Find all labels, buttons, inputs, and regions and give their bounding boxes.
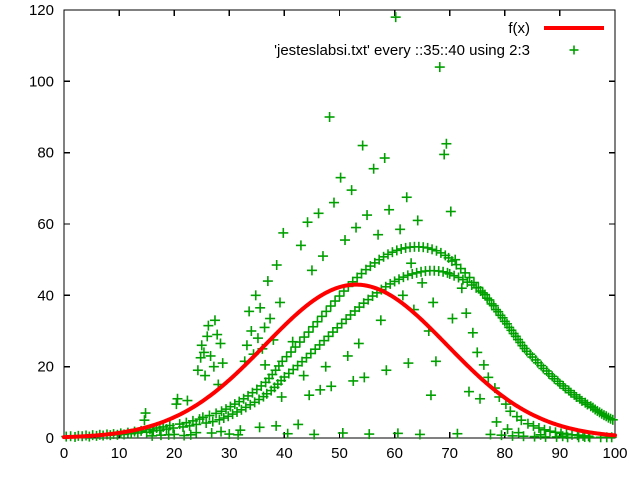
data-point-marker [232,407,242,417]
data-point-marker [340,235,350,245]
data-point-marker [478,288,488,298]
data-point-marker [272,260,282,270]
data-point-marker [464,387,474,397]
data-point-marker [479,360,489,370]
data-point-marker [461,308,471,318]
data-point-marker [469,277,479,287]
data-point-marker [200,371,210,381]
data-point-marker [347,185,357,195]
data-point-marker [215,338,225,348]
data-point-marker [428,297,438,307]
data-point-marker [403,270,413,280]
data-point-marker [255,303,265,313]
data-point-marker [293,419,303,429]
data-point-marker [465,273,475,283]
legend: f(x) 'jesteslabsi.txt' every ::35::40 us… [274,20,604,59]
legend-label-datafile: 'jesteslabsi.txt' every ::35::40 using 2… [274,42,530,59]
x-tick-label: 100 [602,445,627,462]
data-point-marker [435,62,445,72]
data-point-marker [468,328,478,338]
data-point-marker [212,330,222,340]
data-point-marker [260,360,270,370]
data-point-marker [217,406,227,416]
data-point-marker [387,247,397,257]
data-point-marker [218,358,228,368]
data-point-marker [329,198,339,208]
data-point-marker [236,405,246,415]
data-point-marker [541,432,551,442]
data-point-marker [314,208,324,218]
data-point-marker [230,399,240,409]
data-point-marker [402,192,412,202]
data-point-marker [391,12,401,22]
data-point-marker [358,141,368,151]
data-point-marker [245,400,255,410]
data-point-marker [265,314,275,324]
data-point-marker [242,340,252,350]
data-point-marker [528,421,538,431]
data-point-marker [202,331,212,341]
data-point-marker [317,311,327,321]
x-tick-label: 50 [331,445,348,462]
x-tick-label: 30 [221,445,238,462]
data-point-marker [354,338,364,348]
gnuplot-figure: 020406080100120 0102030405060708090100 f… [0,0,640,480]
data-point-marker [223,411,233,421]
data-point-marker [407,269,417,279]
data-point-marker [255,422,265,432]
data-point-marker [182,396,192,406]
data-point-marker [343,351,353,361]
x-tick-label: 0 [60,445,68,462]
data-point-marker [505,406,515,416]
legend-plus-sample [570,46,579,55]
scatter-series [61,12,618,442]
data-point-marker [423,243,433,253]
data-point-marker [304,327,314,337]
data-point-marker [431,246,441,256]
data-point-marker [447,314,457,324]
data-point-marker [441,139,451,149]
data-point-marker [336,173,346,183]
data-point-marker [384,205,394,215]
data-point-marker [209,362,219,372]
data-point-marker [417,278,427,288]
data-point-marker [325,112,335,122]
data-point-marker [241,402,251,412]
x-tick-label: 80 [496,445,513,462]
data-point-marker [395,224,405,234]
data-point-marker [228,409,238,419]
data-point-marker [492,417,502,427]
data-point-marker [394,274,404,284]
y-axis-tick-labels: 020406080100120 [29,2,54,447]
data-point-marker [263,276,273,286]
data-point-marker [193,365,203,375]
data-point-marker [351,223,361,233]
data-point-marker [235,425,245,435]
y-tick-label: 40 [37,287,54,304]
y-tick-label: 80 [37,145,54,162]
data-point-marker [458,275,468,285]
data-point-marker [318,251,328,261]
data-point-marker [303,217,313,227]
data-point-marker [271,421,281,431]
data-point-marker [406,258,416,268]
data-point-marker [275,297,285,307]
legend-label-fx: f(x) [508,20,530,37]
data-point-marker [396,244,406,254]
data-point-marker [139,415,149,425]
data-point-marker [141,408,151,418]
data-point-marker [452,429,462,439]
data-point-marker [472,347,482,357]
data-point-marker [171,399,181,409]
data-point-marker [321,362,331,372]
data-point-marker [326,381,336,391]
data-point-marker [308,322,318,332]
data-point-marker [475,394,485,404]
y-tick-label: 20 [37,359,54,376]
x-tick-label: 70 [441,445,458,462]
data-point-marker [412,268,422,278]
data-point-marker [427,244,437,254]
data-point-marker [530,432,540,442]
data-point-marker [431,356,441,366]
data-point-marker [277,392,287,402]
data-point-marker [304,390,314,400]
data-point-marker [219,413,229,423]
data-point-marker [534,423,544,433]
data-point-marker [445,269,455,279]
x-tick-label: 20 [166,445,183,462]
data-point-marker [376,315,386,325]
data-point-marker [296,240,306,250]
x-axis-tick-labels: 0102030405060708090100 [60,445,628,462]
data-point-marker [330,296,340,306]
data-point-marker [383,249,393,259]
data-point-marker [307,265,317,275]
data-point-marker [203,321,213,331]
x-tick-label: 10 [111,445,128,462]
data-point-marker [207,428,217,438]
data-point-marker [246,326,256,336]
data-point-marker [403,358,413,368]
data-point-marker [312,317,322,327]
data-point-marker [390,276,400,286]
data-point-marker [439,149,449,159]
data-point-marker [216,427,226,437]
data-point-marker [373,230,383,240]
y-tick-label: 120 [29,2,54,19]
y-tick-label: 0 [46,430,54,447]
data-point-marker [225,402,235,412]
data-point-marker [335,291,345,301]
data-point-marker [446,207,456,217]
data-point-marker [369,164,379,174]
data-point-marker [282,352,292,362]
data-point-marker [210,315,220,325]
plot-canvas: 020406080100120 0102030405060708090100 f… [0,0,640,480]
data-point-marker [191,428,201,438]
data-point-marker [362,210,372,220]
data-point-marker [221,404,231,414]
data-point-marker [398,272,408,282]
x-tick-label: 90 [552,445,569,462]
data-point-marker [392,245,402,255]
data-point-marker [454,273,464,283]
data-point-marker [503,424,513,434]
x-tick-label: 60 [386,445,403,462]
plot-border [64,10,615,438]
data-point-marker [251,290,261,300]
data-point-marker [315,385,325,395]
data-point-marker [413,215,423,225]
data-point-marker [278,228,288,238]
data-point-marker [380,153,390,163]
data-point-marker [197,340,207,350]
data-point-marker [438,267,448,277]
data-point-marker [286,347,296,357]
data-point-marker [260,322,270,332]
data-point-marker [253,333,263,343]
data-point-marker [326,301,336,311]
tick-marks [64,10,615,438]
data-point-marker [173,394,183,404]
data-point-marker [436,248,446,258]
y-tick-label: 60 [37,216,54,233]
data-point-marker [426,390,436,400]
data-point-marker [545,426,555,436]
data-point-marker [299,371,309,381]
data-point-marker [299,332,309,342]
y-tick-label: 100 [29,73,54,90]
data-point-marker [348,376,358,386]
data-point-marker [321,306,331,316]
x-tick-label: 40 [276,445,293,462]
data-point-marker [244,306,254,316]
data-point-marker [359,372,369,382]
data-point-marker [381,365,391,375]
data-point-marker [457,283,467,293]
